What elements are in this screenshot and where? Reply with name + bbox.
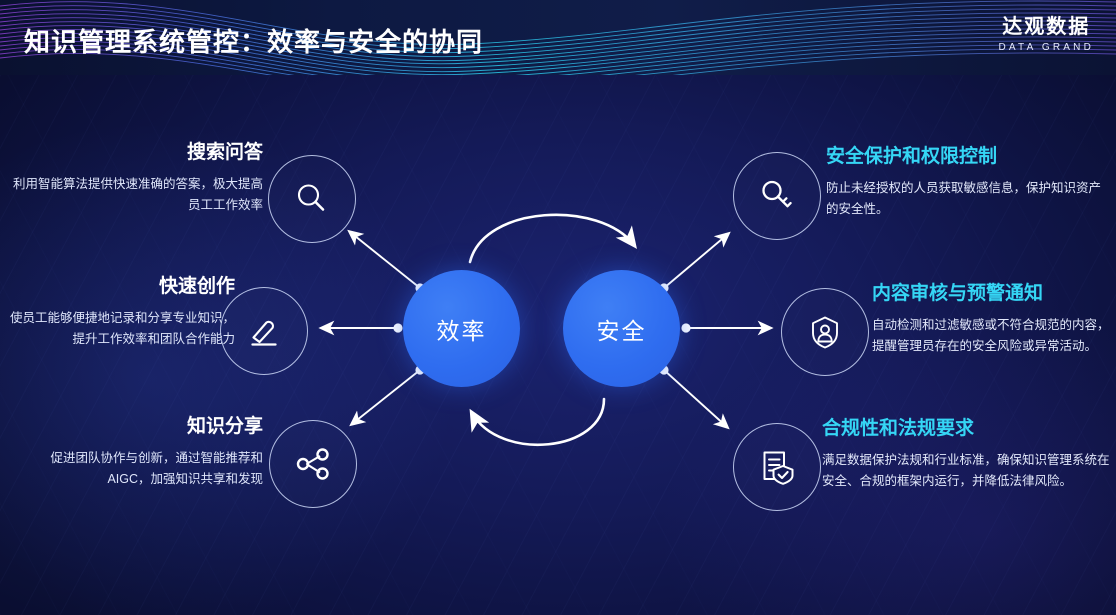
- key-icon: [756, 175, 798, 217]
- document-shield-check-icon-circle[interactable]: [733, 423, 821, 511]
- key-icon-circle[interactable]: [733, 152, 821, 240]
- feature-description: 使员工能够便捷地记录和分享专业知识，提升工作效率和团队合作能力: [0, 308, 235, 351]
- core-circle-security[interactable]: 安全: [563, 270, 680, 387]
- feature-description: 利用智能算法提供快速准确的答案，极大提高员工工作效率: [8, 174, 263, 217]
- logo-chinese-name: 达观数据: [998, 16, 1094, 38]
- slide-canvas: 知识管理系统管控：效率与安全的协同 达观数据 DATA GRAND: [0, 0, 1116, 615]
- share-nodes-icon-circle[interactable]: [269, 420, 357, 508]
- arc-arrow-efficiency-to-security: [470, 215, 634, 262]
- feature-description: 防止未经授权的人员获取敏感信息，保护知识资产的安全性。: [826, 178, 1111, 221]
- magnifier-icon: [292, 179, 332, 219]
- feature-description: 满足数据保护法规和行业标准，确保知识管理系统在安全、合规的框架内运行，并降低法律…: [822, 450, 1112, 493]
- slide-header: 知识管理系统管控：效率与安全的协同 达观数据 DATA GRAND: [0, 0, 1116, 75]
- feature-block-compliance: 合规性和法规要求 满足数据保护法规和行业标准，确保知识管理系统在安全、合规的框架…: [822, 418, 1112, 493]
- feature-title: 内容审核与预警通知: [872, 283, 1112, 306]
- logo-english-name: DATA GRAND: [998, 42, 1094, 53]
- feature-block-search: 搜索问答 利用智能算法提供快速准确的答案，极大提高员工工作效率: [8, 142, 263, 217]
- magnifier-icon-circle[interactable]: [268, 155, 356, 243]
- feature-title: 安全保护和权限控制: [826, 146, 1111, 169]
- shield-user-icon: [804, 311, 846, 353]
- feature-block-knowledge-sharing: 知识分享 促进团队协作与创新，通过智能推荐和AIGC，加强知识共享和发现: [8, 416, 263, 491]
- arc-arrow-security-to-efficiency: [472, 399, 604, 445]
- feature-title: 搜索问答: [8, 142, 263, 165]
- brand-logo: 达观数据 DATA GRAND: [998, 16, 1094, 53]
- shield-user-icon-circle[interactable]: [781, 288, 869, 376]
- feature-title: 合规性和法规要求: [822, 418, 1112, 441]
- feature-block-security-protection: 安全保护和权限控制 防止未经授权的人员获取敏感信息，保护知识资产的安全性。: [826, 146, 1111, 221]
- pencil-icon: [244, 311, 284, 351]
- page-title: 知识管理系统管控：效率与安全的协同: [24, 22, 483, 59]
- feature-description: 促进团队协作与创新，通过智能推荐和AIGC，加强知识共享和发现: [8, 448, 263, 491]
- core-circle-efficiency[interactable]: 效率: [403, 270, 520, 387]
- document-shield-check-icon: [756, 446, 798, 488]
- feature-title: 快速创作: [0, 276, 235, 299]
- share-nodes-icon: [292, 443, 334, 485]
- feature-block-content-audit: 内容审核与预警通知 自动检测和过滤敏感或不符合规范的内容，提醒管理员存在的安全风…: [872, 283, 1112, 358]
- core-circle-efficiency-label: 效率: [437, 312, 487, 346]
- feature-block-create: 快速创作 使员工能够便捷地记录和分享专业知识，提升工作效率和团队合作能力: [0, 276, 235, 351]
- feature-title: 知识分享: [8, 416, 263, 439]
- feature-description: 自动检测和过滤敏感或不符合规范的内容，提醒管理员存在的安全风险或异常活动。: [872, 315, 1112, 358]
- core-circle-security-label: 安全: [597, 312, 647, 346]
